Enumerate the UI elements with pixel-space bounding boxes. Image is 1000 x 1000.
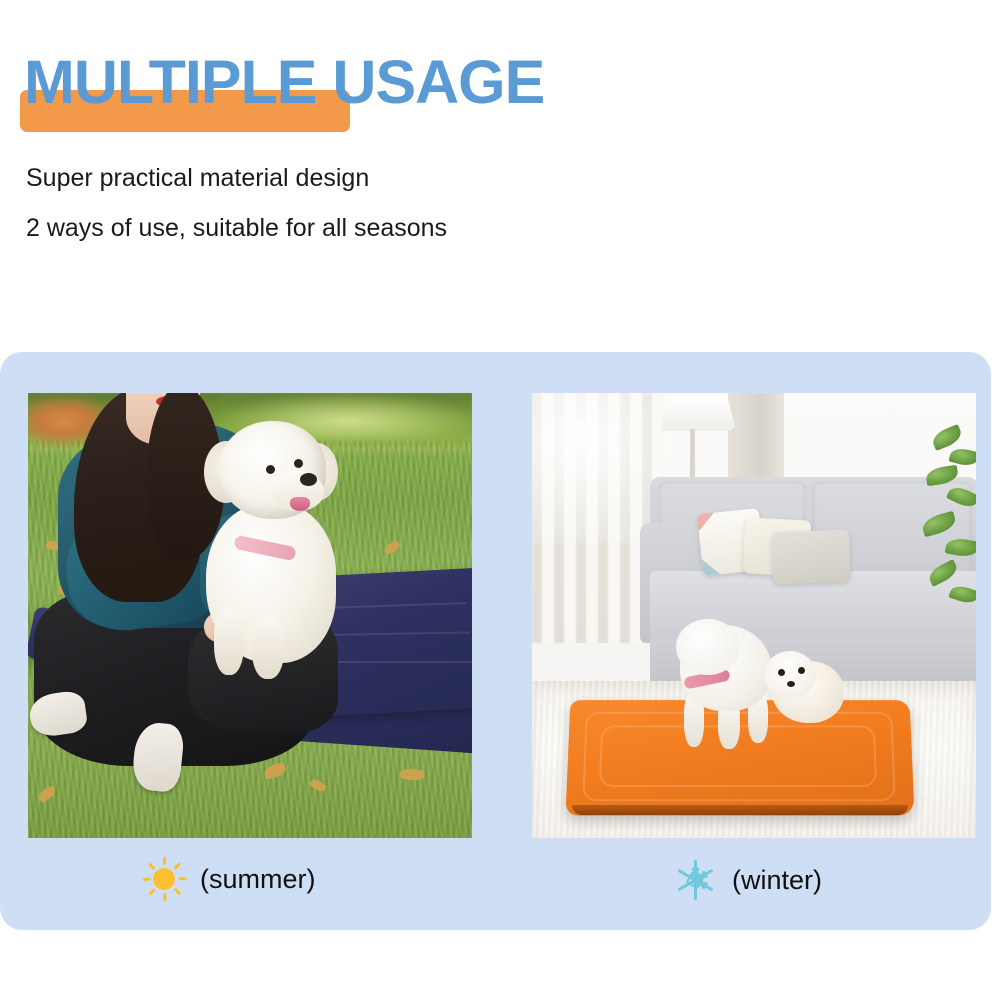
- pomeranian-nose: [787, 681, 795, 687]
- sun-ray: [173, 862, 181, 870]
- poodle-tongue: [290, 497, 310, 511]
- page-title: MULTIPLE USAGE: [24, 52, 544, 113]
- plant-leaf: [946, 483, 976, 511]
- grey-pillow: [771, 530, 851, 585]
- poodle-eye: [294, 459, 303, 468]
- sun-ray: [148, 888, 156, 896]
- poodle-leg: [252, 617, 284, 679]
- sun-icon: [142, 857, 186, 901]
- plant-leaf: [945, 536, 976, 558]
- caption-summer: (summer): [142, 857, 316, 901]
- title-line: MULTIPLE USAGE: [24, 52, 544, 113]
- plant-leaf: [948, 583, 976, 606]
- caption-summer-label: (summer): [200, 866, 316, 893]
- sun-ray: [163, 857, 166, 865]
- sun-ray: [148, 862, 156, 870]
- orange-mat-underside: [572, 805, 908, 815]
- subtitle-line-1: Super practical material design: [26, 166, 447, 191]
- title-text: MULTIPLE USAGE: [24, 48, 544, 116]
- photo-winter: [532, 393, 976, 838]
- subtitle-line-2: 2 ways of use, suitable for all seasons: [26, 216, 447, 241]
- pomeranian-eye: [798, 667, 805, 674]
- pomeranian-eye: [778, 669, 785, 676]
- sun-ray: [173, 888, 181, 896]
- sun-ray: [163, 893, 166, 901]
- plant-leaf: [926, 559, 960, 587]
- plant-leaf: [930, 424, 964, 451]
- sun-ray: [143, 877, 151, 880]
- house-plant: [892, 423, 976, 633]
- white-dog-head: [676, 619, 740, 675]
- poodle-eye: [266, 465, 275, 474]
- caption-winter: (winter): [672, 857, 822, 903]
- photo-summer: [28, 393, 472, 838]
- plant-leaf: [925, 465, 959, 486]
- plant-leaf: [920, 511, 958, 538]
- orange-mat: [565, 700, 914, 815]
- pomeranian-head: [764, 651, 816, 699]
- subtitle-block: Super practical material design 2 ways o…: [26, 166, 447, 266]
- caption-winter-label: (winter): [732, 867, 822, 894]
- snowflake-icon: [672, 857, 718, 903]
- sun-ray: [179, 877, 187, 880]
- poodle-leg: [214, 609, 244, 675]
- poodle-nose: [300, 473, 317, 486]
- sun-core: [153, 868, 175, 890]
- floor-lamp-shade: [660, 395, 736, 431]
